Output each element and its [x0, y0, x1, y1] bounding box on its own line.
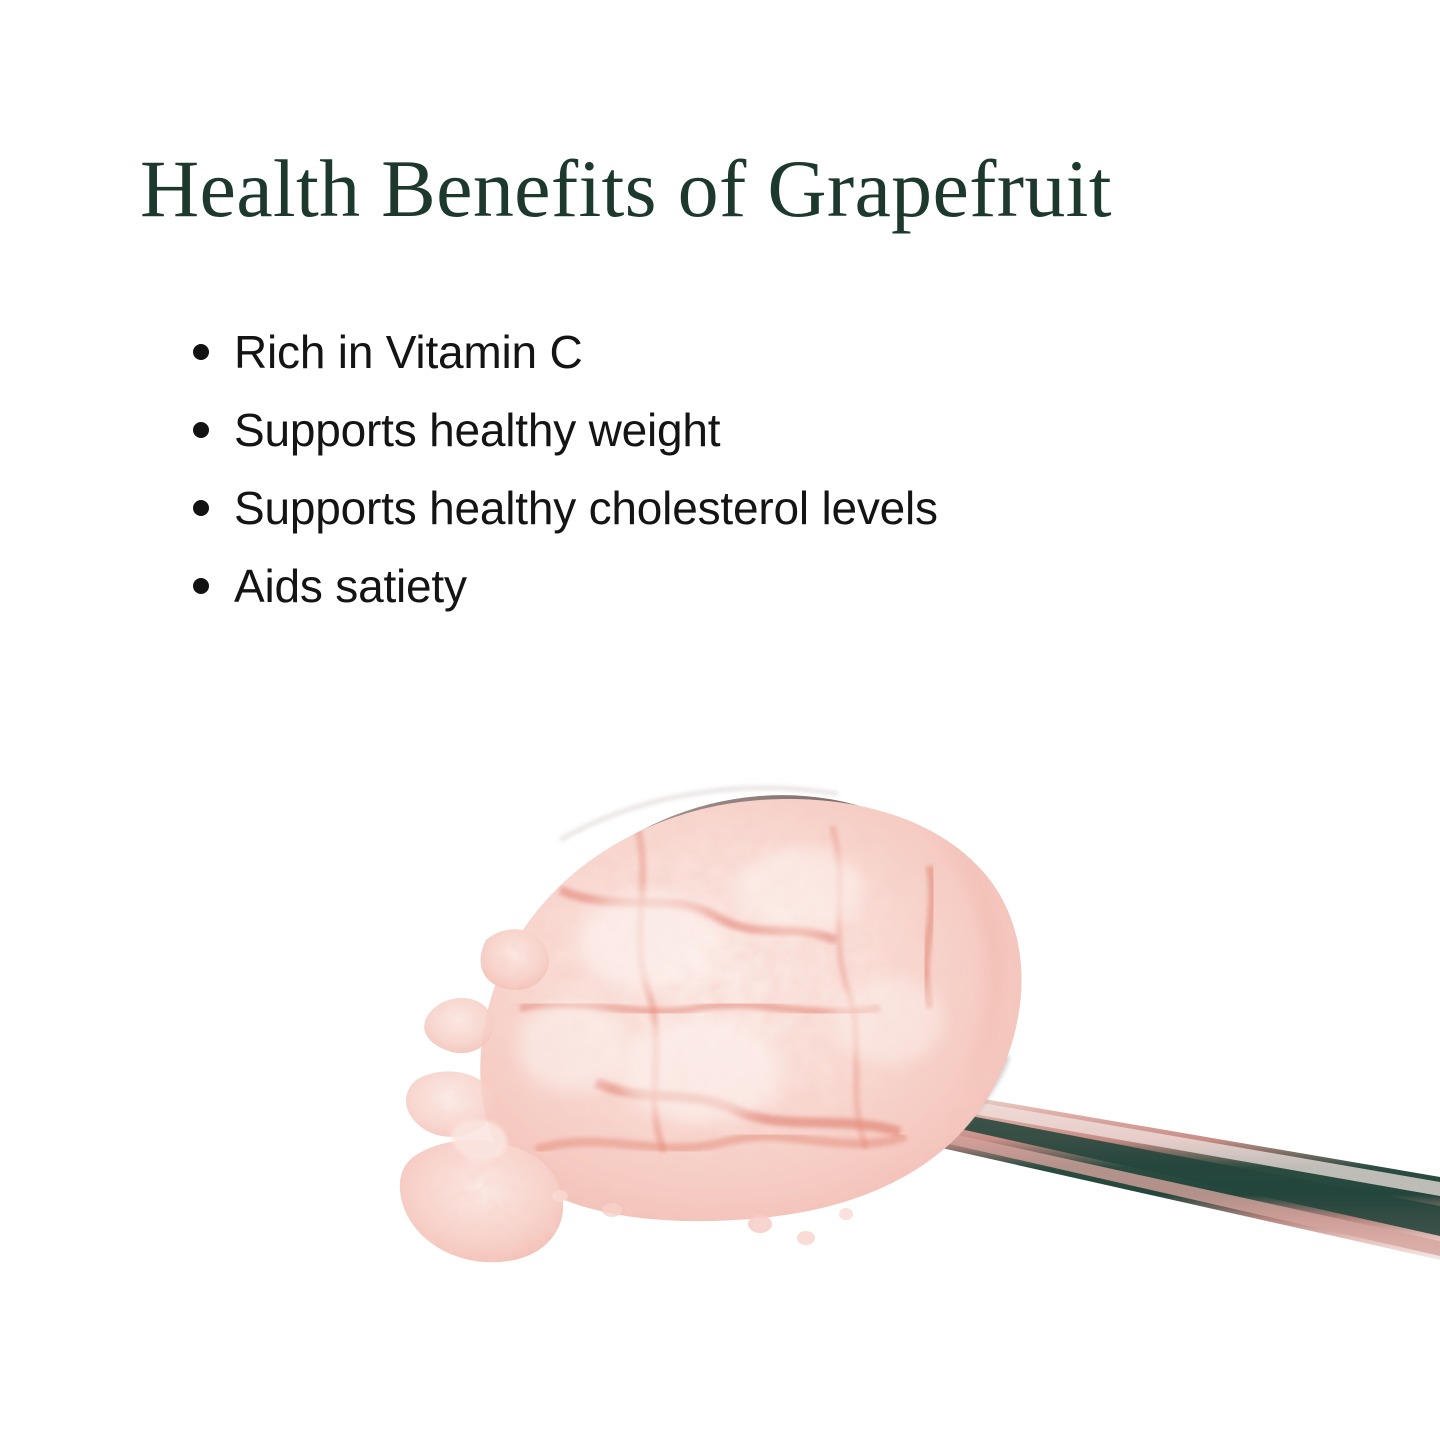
list-item: Supports healthy weight — [190, 391, 1290, 469]
bullet-icon — [193, 578, 209, 594]
page-title: Health Benefits of Grapefruit — [140, 141, 1112, 237]
bullet-icon — [193, 344, 209, 360]
spoon-handle — [915, 1088, 1440, 1260]
list-item: Supports healthy cholesterol levels — [190, 469, 1290, 547]
list-item: Aids satiety — [190, 547, 1290, 625]
list-item-label: Rich in Vitamin C — [234, 326, 583, 378]
powder-heap — [480, 799, 1021, 1221]
infographic-card: Health Benefits of Grapefruit Rich in Vi… — [0, 0, 1440, 1440]
list-item-label: Supports healthy weight — [234, 404, 720, 456]
list-item-label: Supports healthy cholesterol levels — [234, 482, 938, 534]
list-item-label: Aids satiety — [234, 560, 467, 612]
benefits-list: Rich in Vitamin C Supports healthy weigh… — [190, 313, 1290, 625]
grapefruit-powder-spoon-photo — [0, 690, 1440, 1330]
bullet-icon — [193, 422, 209, 438]
list-item: Rich in Vitamin C — [190, 313, 1290, 391]
bullet-icon — [193, 500, 209, 516]
